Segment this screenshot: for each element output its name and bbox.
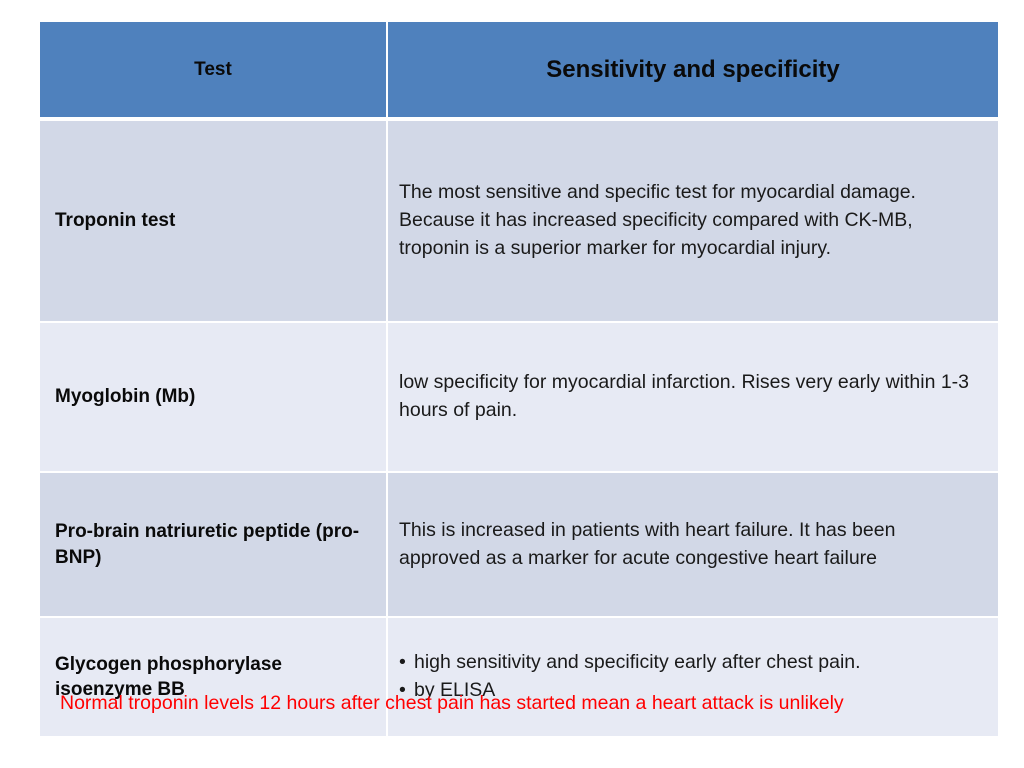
table-header-row: Test Sensitivity and specificity [40, 22, 998, 121]
cell-test-name: Pro-brain natriuretic peptide (pro-BNP) [40, 473, 388, 618]
comparison-table-container: Test Sensitivity and specificity Troponi… [40, 22, 998, 738]
column-header-sensitivity-specificity: Sensitivity and specificity [388, 22, 998, 121]
cardiac-marker-table: Test Sensitivity and specificity Troponi… [40, 22, 998, 738]
table-body: Troponin test The most sensitive and spe… [40, 121, 998, 738]
cell-test-name: Troponin test [40, 121, 388, 323]
table-row: Glycogen phosphorylase isoenzyme BB high… [40, 618, 998, 738]
slide-canvas: Test Sensitivity and specificity Troponi… [0, 0, 1024, 768]
cell-description: high sensitivity and specificity early a… [388, 618, 998, 738]
cell-description: This is increased in patients with heart… [388, 473, 998, 618]
column-header-test: Test [40, 22, 388, 121]
footnote-text: Normal troponin levels 12 hours after ch… [60, 690, 940, 718]
cell-test-name: Glycogen phosphorylase isoenzyme BB [40, 618, 388, 738]
cell-test-name: Myoglobin (Mb) [40, 323, 388, 473]
table-header: Test Sensitivity and specificity [40, 22, 998, 121]
cell-description: The most sensitive and specific test for… [388, 121, 998, 323]
table-row: Troponin test The most sensitive and spe… [40, 121, 998, 323]
cell-description: low specificity for myocardial infarctio… [388, 323, 998, 473]
table-row: Pro-brain natriuretic peptide (pro-BNP) … [40, 473, 998, 618]
bullet-item: high sensitivity and specificity early a… [399, 649, 982, 677]
table-row: Myoglobin (Mb) low specificity for myoca… [40, 323, 998, 473]
